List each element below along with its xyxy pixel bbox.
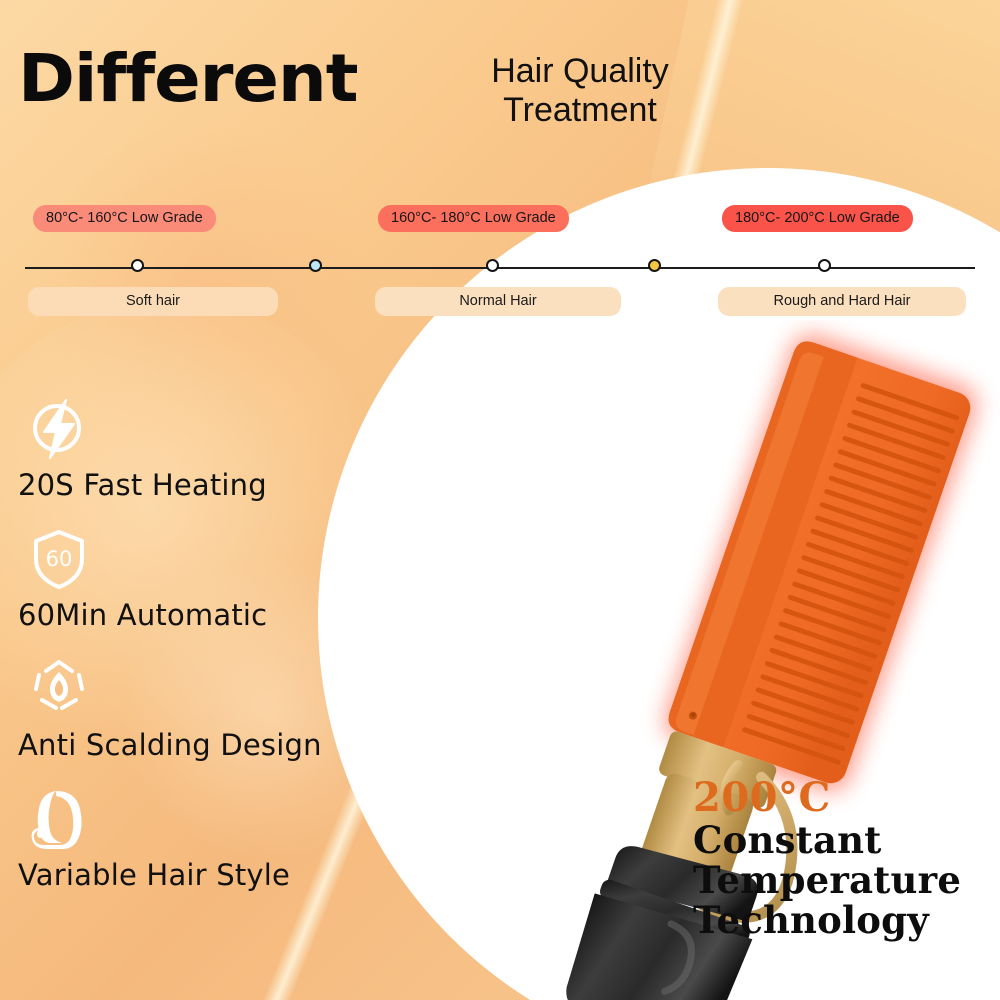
temperature-caption: ConstantTemperatureTechnology [693,821,993,941]
product-infographic: Different Hair Quality Treatment 80°C- 1… [0,0,1000,1000]
feature-label: Anti Scalding Design [18,728,322,762]
scale-dot [131,259,144,272]
temperature-caption-line: Constant [693,821,993,861]
scale-axis-line [25,267,975,269]
temperature-grade-badge: 160°C- 180°C Low Grade [378,205,569,232]
constant-temperature-block: 200°C ConstantTemperatureTechnology [693,778,993,941]
feature-label: 20S Fast Heating [18,468,267,502]
temperature-grade-badge: 180°C- 200°C Low Grade [722,205,913,232]
temperature-scale: 80°C- 160°C Low Grade160°C- 180°C Low Gr… [0,205,1000,330]
feature-item: Variable Hair Style [0,788,400,900]
feature-item: 6060Min Automatic [0,528,400,640]
feature-label: 60Min Automatic [18,598,267,632]
hair-type-pill: Normal Hair [375,287,621,316]
shield-60-icon: 60 [26,528,92,590]
page-title: Different [18,46,358,112]
hair-woman-icon [26,788,92,850]
hair-type-pill: Rough and Hard Hair [718,287,966,316]
feature-list: 20S Fast Heating6060Min AutomaticAnti Sc… [0,398,400,918]
scale-dot [648,259,661,272]
flame-shield-icon [26,658,92,720]
temperature-grade-badge: 80°C- 160°C Low Grade [33,205,216,232]
lightning-bolt-icon [26,398,92,460]
temperature-value: 200°C [693,778,993,819]
temperature-caption-line: Temperature [693,861,993,901]
page-subtitle: Hair Quality Treatment [440,52,720,130]
feature-label: Variable Hair Style [18,858,290,892]
feature-item: Anti Scalding Design [0,658,400,770]
hair-type-pill: Soft hair [28,287,278,316]
header: Different Hair Quality Treatment [0,42,720,152]
scale-dot [309,259,322,272]
scale-dot [818,259,831,272]
svg-text:60: 60 [46,547,73,571]
feature-item: 20S Fast Heating [0,398,400,510]
temperature-caption-line: Technology [693,901,993,941]
scale-dot [486,259,499,272]
